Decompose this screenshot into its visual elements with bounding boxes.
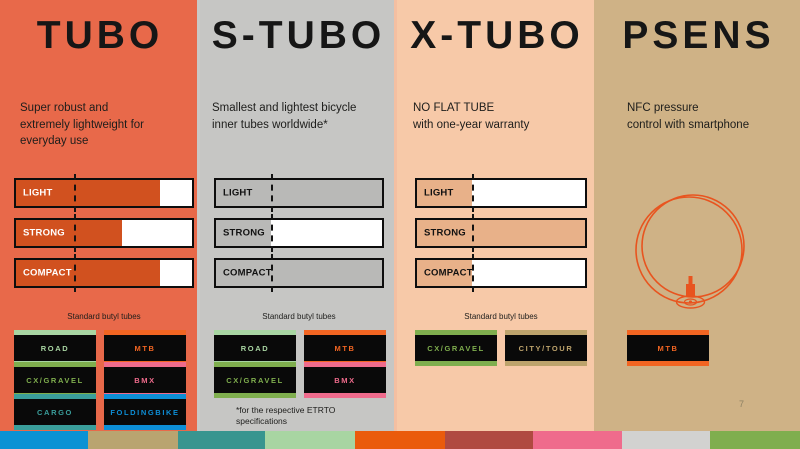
badge-accent-top xyxy=(304,362,386,367)
strip-swatch xyxy=(533,431,622,449)
bar-label: LIGHT xyxy=(223,188,253,199)
badge-accent-top xyxy=(214,362,296,367)
bar-label: STRONG xyxy=(223,228,265,239)
bar-label: COMPACT xyxy=(223,268,272,279)
column-subtitle-psens: NFC pressure control with smartphone xyxy=(627,100,790,133)
badge-cargo[interactable]: CARGO xyxy=(14,399,96,425)
badge-label: CARGO xyxy=(37,408,73,417)
column-subtitle-s-tubo: Smallest and lightest bicycle inner tube… xyxy=(212,100,387,133)
badge-label: CX/GRAVEL xyxy=(226,376,284,385)
badge-cx-gravel[interactable]: CX/GRAVEL xyxy=(415,335,497,361)
strip-swatch xyxy=(265,431,355,449)
bottom-color-strip xyxy=(0,431,800,449)
bar-compact: COMPACT xyxy=(214,258,384,288)
badge-road[interactable]: ROAD xyxy=(214,335,296,361)
badge-accent-top xyxy=(14,362,96,367)
badge-label: MTB xyxy=(657,344,678,353)
chart-caption: Standard butyl tubes xyxy=(214,312,384,321)
badge-bmx[interactable]: BMX xyxy=(304,367,386,393)
reference-line xyxy=(271,174,273,212)
bar-label: LIGHT xyxy=(424,188,454,199)
badge-cx-gravel[interactable]: CX/GRAVEL xyxy=(214,367,296,393)
badge-accent-bottom xyxy=(214,393,296,398)
bar-label: COMPACT xyxy=(23,268,72,279)
badge-label: CX/GRAVEL xyxy=(26,376,84,385)
badge-city-tour[interactable]: CITY/TOUR xyxy=(505,335,587,361)
badge-label: ROAD xyxy=(41,344,69,353)
bar-strong: STRONG xyxy=(214,218,384,248)
reference-line xyxy=(472,174,474,212)
reference-line xyxy=(74,254,76,292)
bar-light: LIGHT xyxy=(214,178,384,208)
slide: TUBO Super robust and extremely lightwei… xyxy=(0,0,800,449)
bar-strong: STRONG xyxy=(415,218,587,248)
badge-label: BMX xyxy=(134,376,155,385)
strip-swatch xyxy=(0,431,88,449)
bar-chart-s-tubo: LIGHT STRONG COMPACT xyxy=(214,178,384,308)
product-columns: TUBO Super robust and extremely lightwei… xyxy=(0,0,800,431)
inner-tube-icon xyxy=(617,188,767,316)
strip-swatch xyxy=(88,431,178,449)
column-subtitle-x-tubo: NO FLAT TUBE with one-year warranty xyxy=(413,100,587,133)
column-title-tubo: TUBO xyxy=(0,16,200,55)
bar-label: STRONG xyxy=(23,228,65,239)
badge-mtb[interactable]: MTB xyxy=(104,335,186,361)
reference-line xyxy=(472,254,474,292)
bar-compact: COMPACT xyxy=(415,258,587,288)
badge-accent-top xyxy=(14,394,96,399)
strip-swatch xyxy=(710,431,800,449)
column-subtitle-tubo: Super robust and extremely lightweight f… xyxy=(20,100,186,150)
strip-swatch xyxy=(178,431,265,449)
column-title-psens: PSENS xyxy=(597,16,800,55)
badge-accent-bottom xyxy=(104,425,186,430)
chart-caption: Standard butyl tubes xyxy=(415,312,587,321)
chart-caption: Standard butyl tubes xyxy=(14,312,194,321)
badge-road[interactable]: ROAD xyxy=(14,335,96,361)
column-title-s-tubo: S-TUBO xyxy=(200,16,397,55)
badge-foldingbike[interactable]: FOLDINGBIKE xyxy=(104,399,186,425)
badge-list-s-tubo: ROAD MTB CX/GRAVEL BMX xyxy=(214,335,386,393)
reference-line xyxy=(271,214,273,252)
badge-list-psens: MTB xyxy=(627,335,800,361)
badge-accent-top xyxy=(104,330,186,335)
bar-label: COMPACT xyxy=(424,268,473,279)
badge-label: BMX xyxy=(334,376,355,385)
page-number: 7 xyxy=(739,399,744,409)
badge-accent-top xyxy=(14,330,96,335)
badge-mtb[interactable]: MTB xyxy=(627,335,709,361)
column-s-tubo: S-TUBO Smallest and lightest bicycle inn… xyxy=(200,0,397,431)
reference-line xyxy=(472,214,474,252)
badge-accent-top xyxy=(505,330,587,335)
badge-list-tubo: ROAD MTB CX/GRAVEL BMX xyxy=(14,335,194,425)
bar-label: STRONG xyxy=(424,228,466,239)
badge-label: ROAD xyxy=(241,344,269,353)
badge-accent-top xyxy=(627,330,709,335)
bar-chart-x-tubo: LIGHT STRONG COMPACT xyxy=(415,178,587,308)
bar-light: LIGHT xyxy=(415,178,587,208)
badge-mtb[interactable]: MTB xyxy=(304,335,386,361)
badge-accent-bottom xyxy=(505,361,587,366)
badge-bmx[interactable]: BMX xyxy=(104,367,186,393)
badge-accent-top xyxy=(214,330,296,335)
badge-list-x-tubo: CX/GRAVEL CITY/TOUR xyxy=(415,335,593,361)
column-title-x-tubo: X-TUBO xyxy=(397,16,597,55)
badge-label: CX/GRAVEL xyxy=(427,344,485,353)
column-x-tubo: X-TUBO NO FLAT TUBE with one-year warran… xyxy=(397,0,597,431)
badge-accent-top xyxy=(104,362,186,367)
bar-strong: STRONG xyxy=(14,218,194,248)
strip-swatch xyxy=(622,431,710,449)
badge-accent-top xyxy=(415,330,497,335)
badge-label: CITY/TOUR xyxy=(519,344,574,353)
reference-line xyxy=(271,254,273,292)
strip-swatch xyxy=(445,431,533,449)
bar-label: LIGHT xyxy=(23,188,53,199)
badge-accent-bottom xyxy=(14,425,96,430)
reference-line xyxy=(74,174,76,212)
bar-chart-tubo: LIGHT STRONG COMPACT xyxy=(14,178,194,308)
footnote-etrto: *for the respective ETRTO specifications xyxy=(236,405,386,428)
bar-compact: COMPACT xyxy=(14,258,194,288)
column-tubo: TUBO Super robust and extremely lightwei… xyxy=(0,0,200,431)
strip-swatch xyxy=(355,431,445,449)
badge-label: MTB xyxy=(134,344,155,353)
column-psens: PSENS NFC pressure control with smartpho… xyxy=(597,0,800,431)
badge-label: MTB xyxy=(334,344,355,353)
bar-light: LIGHT xyxy=(14,178,194,208)
reference-line xyxy=(74,214,76,252)
badge-accent-bottom xyxy=(627,361,709,366)
badge-label: FOLDINGBIKE xyxy=(110,408,179,417)
badge-cx-gravel[interactable]: CX/GRAVEL xyxy=(14,367,96,393)
badge-accent-bottom xyxy=(304,393,386,398)
badge-accent-top xyxy=(304,330,386,335)
badge-accent-top xyxy=(104,394,186,399)
badge-accent-bottom xyxy=(415,361,497,366)
